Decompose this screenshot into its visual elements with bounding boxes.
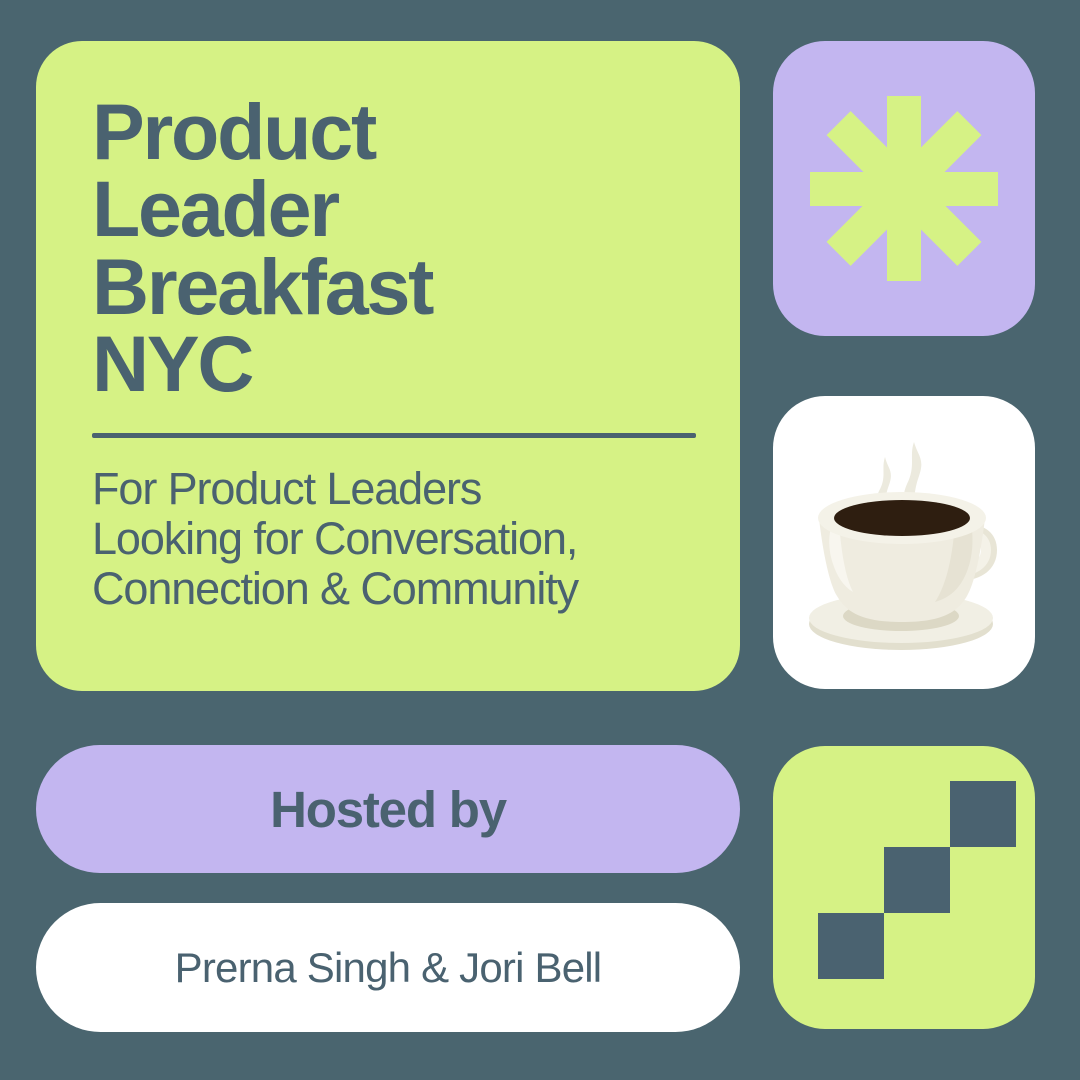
page-title: Product Leader Breakfast NYC [92, 93, 694, 403]
asterisk-icon [773, 41, 1035, 336]
hosted-by-badge: Hosted by [36, 745, 740, 873]
poster-canvas: Product Leader Breakfast NYC For Product… [0, 0, 1080, 1080]
tile-staircase [773, 746, 1035, 1029]
coffee-cup-icon [773, 396, 1035, 689]
hosted-by-label: Hosted by [270, 780, 506, 839]
tile-asterisk [773, 41, 1035, 336]
tile-coffee [773, 396, 1035, 689]
hero-card: Product Leader Breakfast NYC For Product… [36, 41, 740, 691]
host-names-badge: Prerna Singh & Jori Bell [36, 903, 740, 1032]
divider [92, 433, 696, 438]
hero-subtitle: For Product Leaders Looking for Conversa… [92, 464, 694, 615]
host-names-label: Prerna Singh & Jori Bell [175, 944, 602, 992]
staircase-blocks-icon [773, 746, 1035, 1029]
